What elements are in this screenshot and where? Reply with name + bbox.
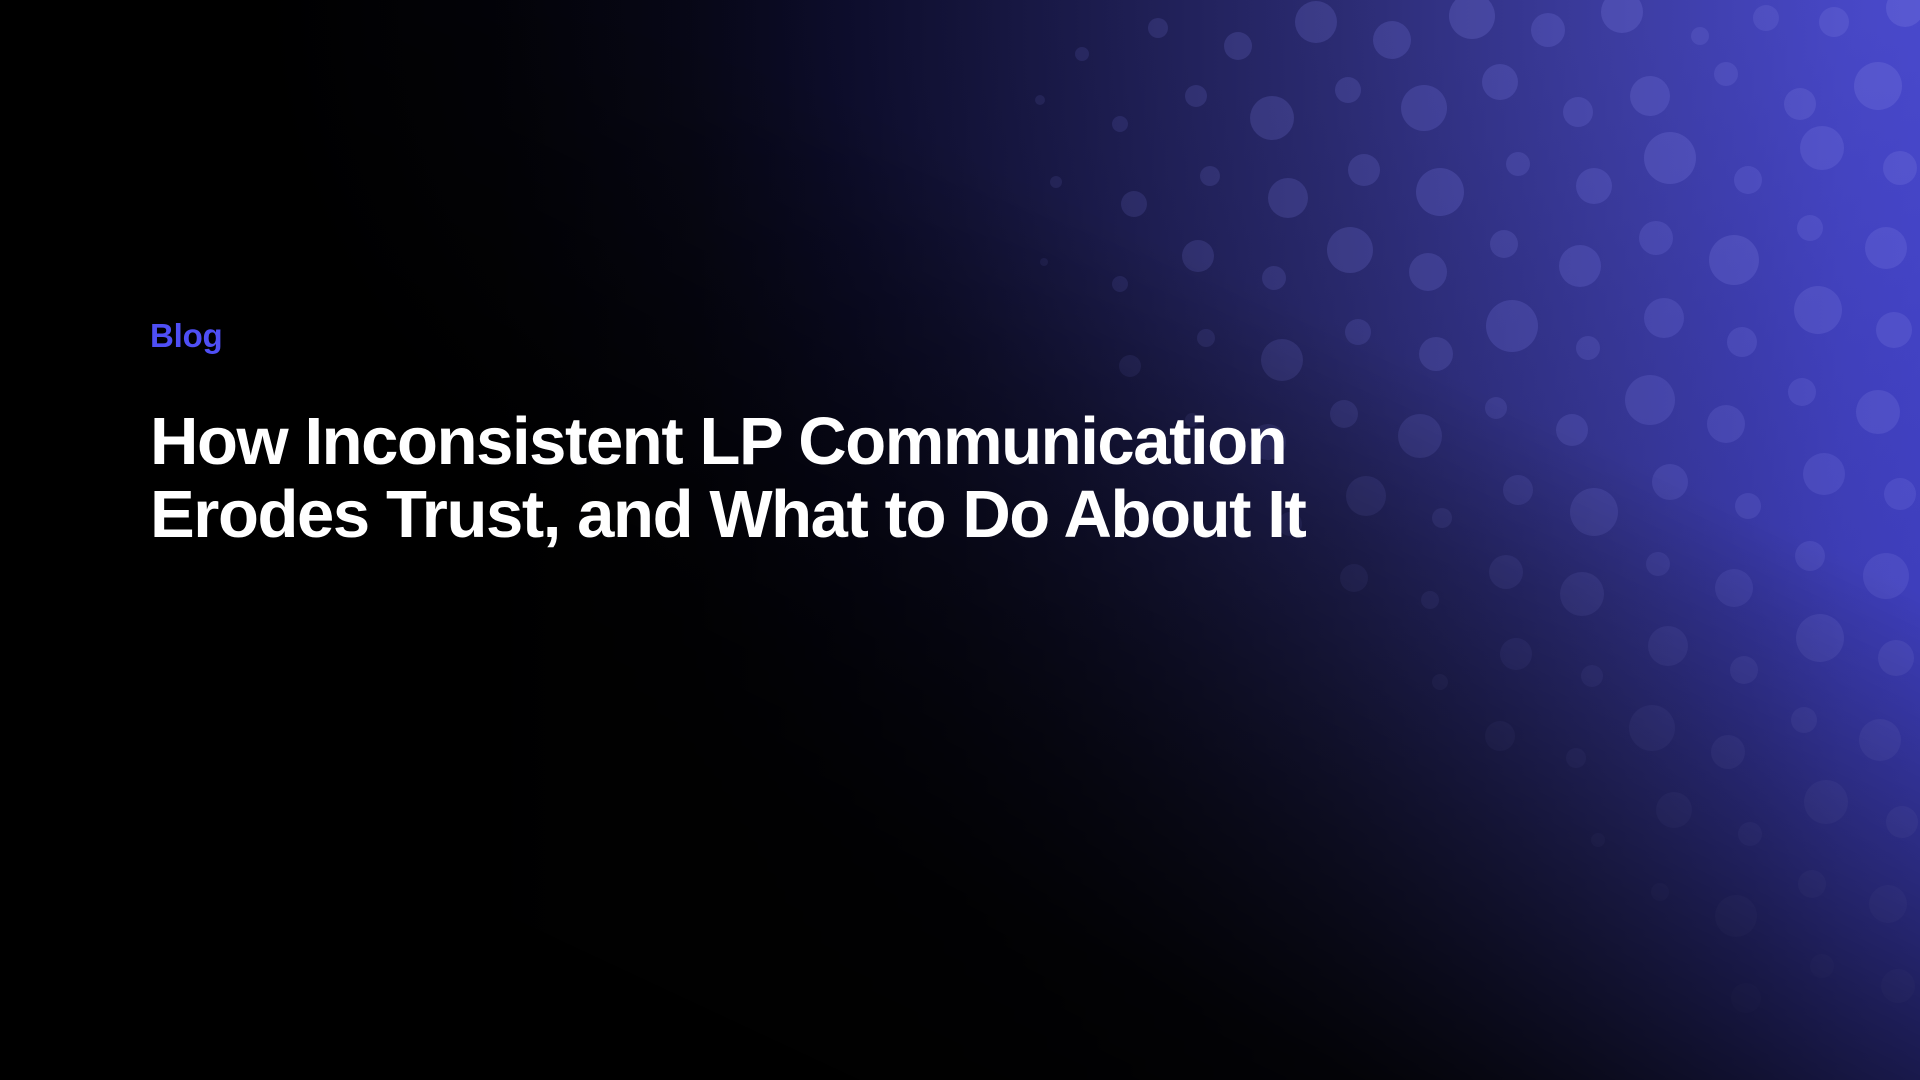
- decorative-dot: [1800, 126, 1844, 170]
- decorative-dot: [1859, 719, 1901, 761]
- decorative-dot: [1738, 822, 1762, 846]
- decorative-dot: [1581, 665, 1603, 687]
- decorative-dot: [1798, 870, 1826, 898]
- decorative-dot: [1563, 97, 1593, 127]
- decorative-dot: [1804, 780, 1848, 824]
- decorative-dot: [1886, 0, 1920, 27]
- decorative-dot: [1734, 166, 1762, 194]
- decorative-dot: [1691, 27, 1709, 45]
- decorative-dot: [1856, 390, 1900, 434]
- hero-content: Blog How Inconsistent LP Communication E…: [150, 318, 1790, 551]
- decorative-dot: [1791, 707, 1817, 733]
- decorative-dot: [1869, 885, 1907, 923]
- decorative-dot: [1121, 191, 1147, 217]
- blog-hero-banner: Blog How Inconsistent LP Communication E…: [0, 0, 1920, 1080]
- decorative-dot: [1731, 983, 1761, 1013]
- decorative-dot: [1648, 626, 1688, 666]
- decorative-dot: [1040, 258, 1048, 266]
- decorative-dot: [1576, 168, 1612, 204]
- decorative-dot: [1182, 240, 1214, 272]
- decorative-dot: [1268, 178, 1308, 218]
- decorative-dot: [1863, 553, 1909, 599]
- decorative-dot: [1185, 85, 1207, 107]
- decorative-dot: [1566, 748, 1586, 768]
- category-label-blog: Blog: [150, 318, 1790, 354]
- decorative-dot: [1788, 378, 1816, 406]
- decorative-dot: [1881, 969, 1915, 1003]
- decorative-dot: [1348, 154, 1380, 186]
- decorative-dot: [1651, 883, 1669, 901]
- decorative-dot: [1656, 792, 1692, 828]
- decorative-dot: [1784, 88, 1816, 120]
- decorative-dot: [1796, 614, 1844, 662]
- decorative-dot: [1340, 564, 1368, 592]
- decorative-dot: [1416, 168, 1464, 216]
- decorative-dot: [1421, 591, 1439, 609]
- decorative-dot: [1250, 96, 1294, 140]
- decorative-dot: [1531, 13, 1565, 47]
- decorative-dot: [1485, 721, 1515, 751]
- decorative-dot: [1295, 1, 1337, 43]
- decorative-dot: [1878, 640, 1914, 676]
- decorative-dot: [1865, 227, 1907, 269]
- decorative-dot: [1884, 478, 1916, 510]
- decorative-dot: [1630, 76, 1670, 116]
- decorative-dot: [1050, 176, 1062, 188]
- decorative-dot: [1112, 116, 1128, 132]
- decorative-dot: [1854, 62, 1902, 110]
- decorative-dot: [1797, 215, 1823, 241]
- decorative-dot: [1886, 806, 1918, 838]
- decorative-dot: [1409, 253, 1447, 291]
- decorative-dot: [1795, 541, 1825, 571]
- decorative-dot: [1200, 166, 1220, 186]
- decorative-dot: [1035, 95, 1045, 105]
- decorative-dot: [1591, 833, 1605, 847]
- decorative-dot: [1709, 235, 1759, 285]
- decorative-dot: [1730, 656, 1758, 684]
- decorative-dot: [1373, 21, 1411, 59]
- decorative-dot: [1500, 638, 1532, 670]
- decorative-dot: [1715, 895, 1757, 937]
- decorative-dot: [1432, 674, 1448, 690]
- decorative-dot: [1794, 286, 1842, 334]
- decorative-dot: [1876, 312, 1912, 348]
- decorative-dot: [1560, 572, 1604, 616]
- decorative-dot: [1810, 954, 1834, 978]
- decorative-dot: [1449, 0, 1495, 39]
- decorative-dot: [1753, 5, 1779, 31]
- decorative-dot: [1639, 221, 1673, 255]
- decorative-dot: [1644, 132, 1696, 184]
- decorative-dot: [1883, 151, 1917, 185]
- decorative-dot: [1075, 47, 1089, 61]
- decorative-dot: [1489, 555, 1523, 589]
- decorative-dot: [1819, 7, 1849, 37]
- decorative-dot: [1601, 0, 1643, 33]
- decorative-dot: [1148, 18, 1168, 38]
- decorative-dot: [1335, 77, 1361, 103]
- decorative-dot: [1490, 230, 1518, 258]
- decorative-dot: [1482, 64, 1518, 100]
- page-title: How Inconsistent LP Communication Erodes…: [150, 406, 1450, 551]
- decorative-dot: [1711, 735, 1745, 769]
- decorative-dot: [1262, 266, 1286, 290]
- decorative-dot: [1803, 453, 1845, 495]
- decorative-dot: [1327, 227, 1373, 273]
- decorative-dot: [1646, 552, 1670, 576]
- decorative-dot: [1506, 152, 1530, 176]
- decorative-dot: [1559, 245, 1601, 287]
- decorative-dot: [1224, 32, 1252, 60]
- decorative-dot: [1401, 85, 1447, 131]
- decorative-dot: [1715, 569, 1753, 607]
- decorative-dot: [1714, 62, 1738, 86]
- decorative-dot: [1112, 276, 1128, 292]
- decorative-dot: [1629, 705, 1675, 751]
